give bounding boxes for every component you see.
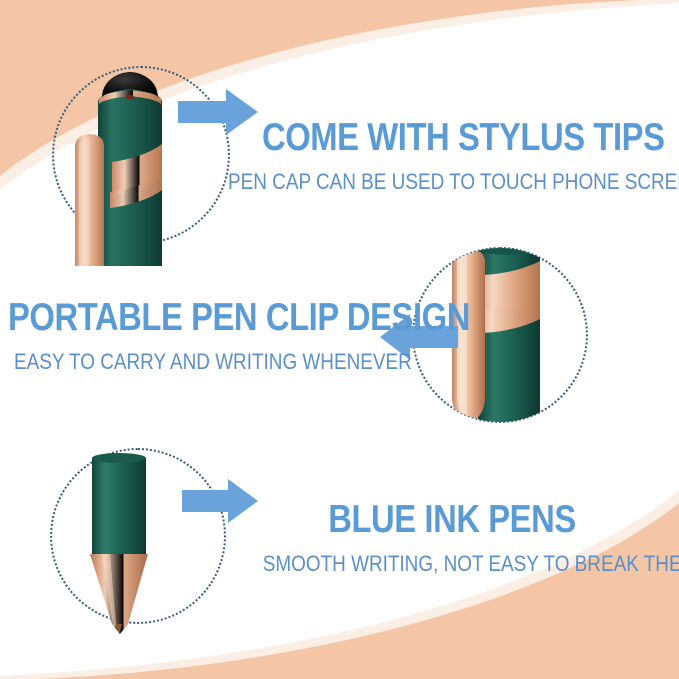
pen-illustration-nib-tip [50, 448, 226, 634]
feature-3-headline: BLUE INK PENS [267, 500, 637, 539]
infographic-canvas: COME WITH STYLUS TIPS PEN CAP CAN BE USE… [0, 0, 679, 679]
feature-2-headline: PORTABLE PEN CLIP DESIGN [8, 298, 344, 337]
feature-3-subtitle: SMOOTH WRITING, NOT EASY TO BREAK THE IN… [263, 553, 641, 575]
feature-2-text: PORTABLE PEN CLIP DESIGN EASY TO CARRY A… [8, 298, 408, 373]
feature-1-text: COME WITH STYLUS TIPS PEN CAP CAN BE USE… [262, 118, 662, 193]
arrow-right-icon [176, 88, 260, 136]
feature-2-subtitle: EASY TO CARRY AND WRITING WHENEVER [14, 351, 353, 373]
feature-1-headline: COME WITH STYLUS TIPS [262, 118, 598, 157]
feature-3-text: BLUE INK PENS SMOOTH WRITING, NOT EASY T… [232, 500, 672, 575]
feature-1-subtitle: PEN CAP CAN BE USED TO TOUCH PHONE SCREE… [228, 171, 601, 193]
